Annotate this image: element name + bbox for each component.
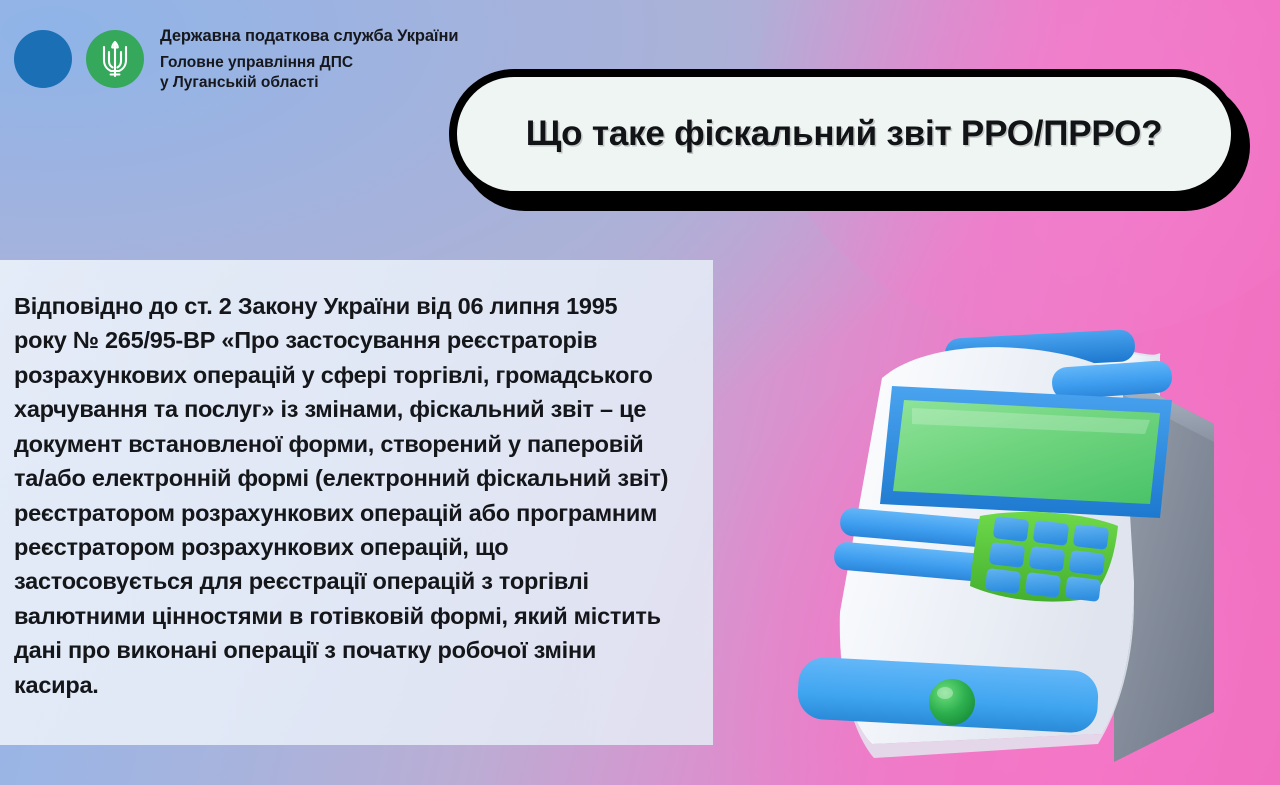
keypad-key xyxy=(1073,524,1109,550)
organization-title: Державна податкова служба України xyxy=(160,26,458,47)
title-banner: Що таке фіскальний звіт РРО/ПРРО? xyxy=(449,69,1239,199)
blue-circle-icon xyxy=(14,30,72,88)
banner-title: Що таке фіскальний звіт РРО/ПРРО? xyxy=(526,114,1163,154)
organization-subtitle-line1: Головне управління ДПС xyxy=(160,53,458,73)
keypad-keys xyxy=(985,516,1109,602)
keypad-key xyxy=(989,542,1025,568)
keypad-key xyxy=(993,516,1029,542)
header-text: Державна податкова служба України Головн… xyxy=(160,24,458,94)
keypad-key xyxy=(1065,576,1101,602)
poster-canvas: Державна податкова служба України Головн… xyxy=(0,0,1280,785)
keypad-key xyxy=(985,568,1021,594)
logo-marks xyxy=(14,24,146,86)
body-paragraph: Відповідно до ст. 2 Закону України від 0… xyxy=(14,289,671,702)
cash-register-illustration xyxy=(762,282,1280,785)
header: Державна податкова служба України Головн… xyxy=(14,24,458,94)
keypad-key xyxy=(1069,550,1105,576)
keypad-key xyxy=(1025,572,1061,598)
keypad-key xyxy=(1029,546,1065,572)
organization-subtitle-line2: у Луганській області xyxy=(160,73,458,93)
green-circle-emblem xyxy=(86,30,144,88)
knob-highlight xyxy=(937,687,953,699)
drawer-knob xyxy=(929,679,975,725)
ukraine-trident-icon xyxy=(98,38,132,80)
body-text-panel: Відповідно до ст. 2 Закону України від 0… xyxy=(0,260,713,745)
keypad-key xyxy=(1033,520,1069,546)
organization-subtitle: Головне управління ДПС у Луганській обла… xyxy=(160,53,458,94)
cash-register-svg xyxy=(762,282,1280,785)
